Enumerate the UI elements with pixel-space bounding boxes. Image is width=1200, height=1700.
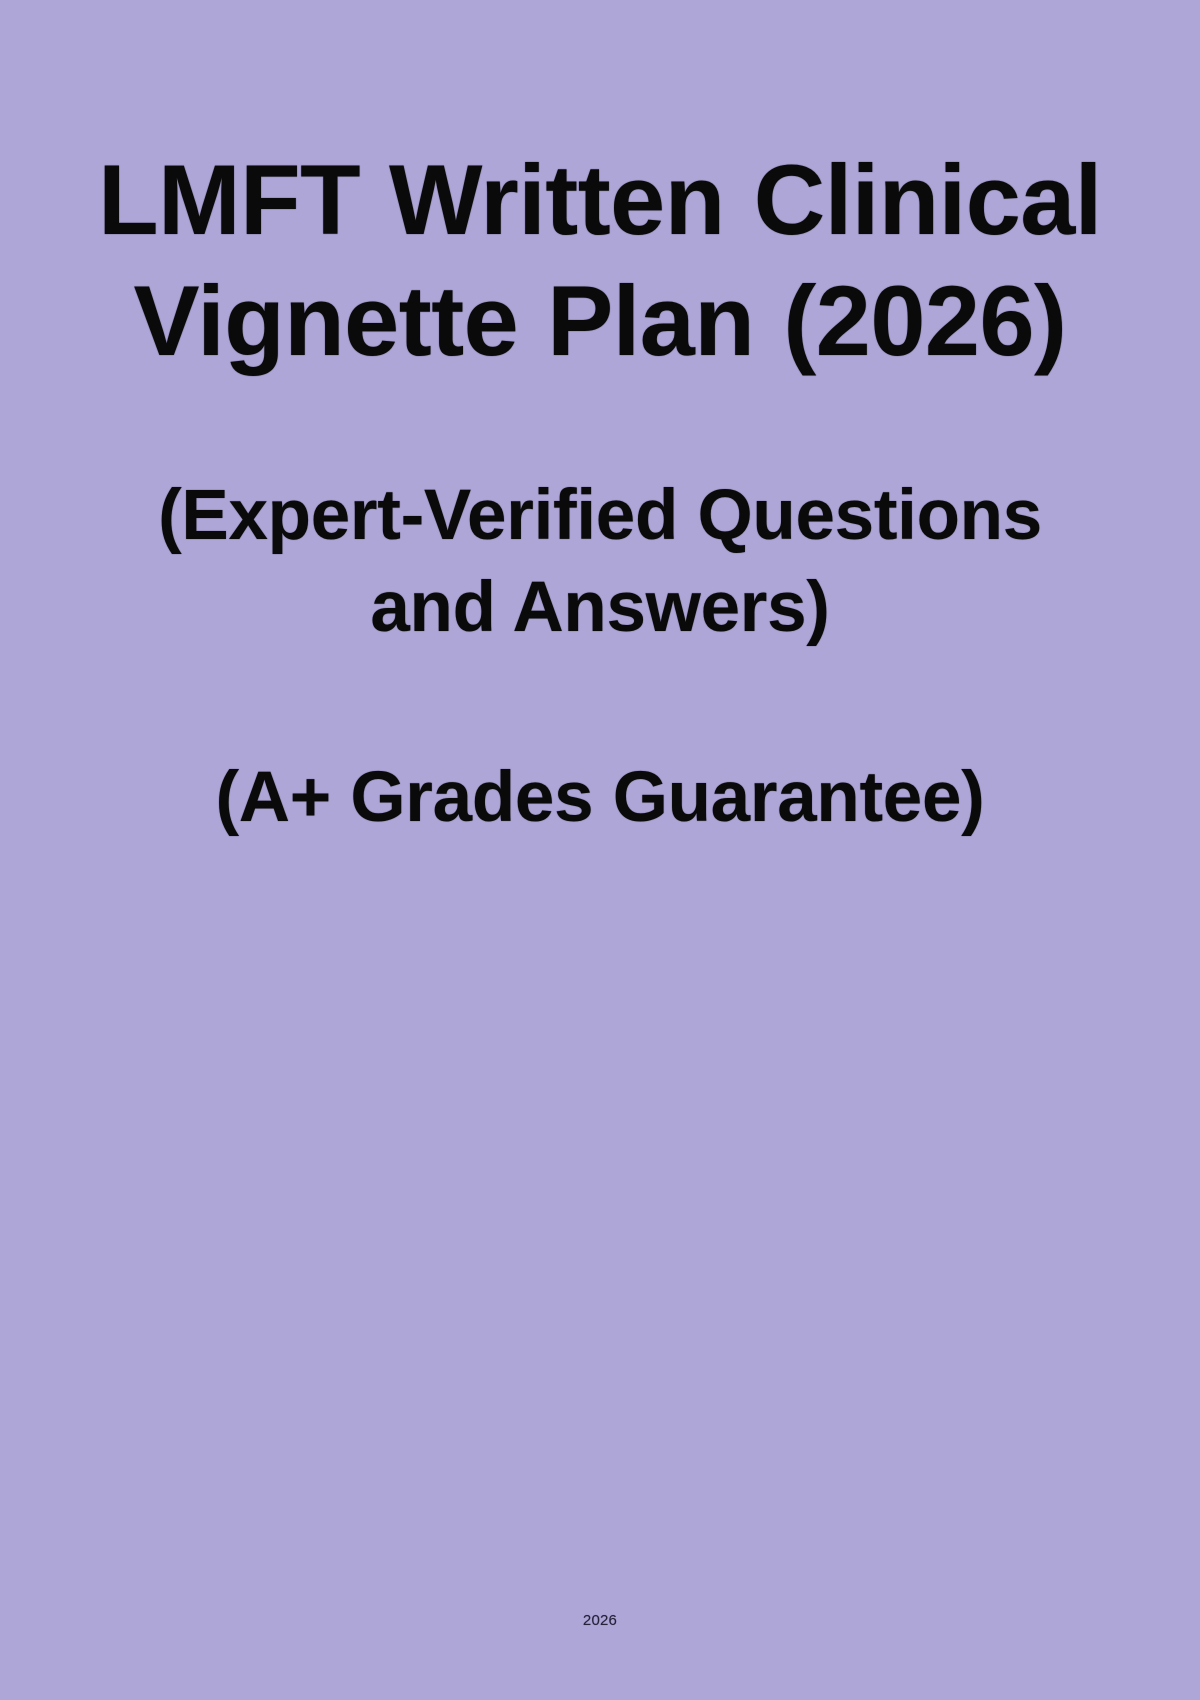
footer-year-label: 2026 [583, 1612, 617, 1629]
page-title: LMFT Written Clinical Vignette Plan (202… [95, 140, 1105, 382]
page-footer: 2026 [0, 1612, 1200, 1630]
guarantee-group: (A+ Grades Guarantee) [95, 752, 1105, 844]
document-page: LMFT Written Clinical Vignette Plan (202… [0, 0, 1200, 1700]
grades-guarantee-text: (A+ Grades Guarantee) [95, 752, 1105, 844]
document-subtitle: (Expert-Verified Questions and Answers) [95, 470, 1105, 655]
subtitle-group: (Expert-Verified Questions and Answers) [95, 470, 1105, 655]
cover-text-block: LMFT Written Clinical Vignette Plan (202… [0, 140, 1200, 844]
